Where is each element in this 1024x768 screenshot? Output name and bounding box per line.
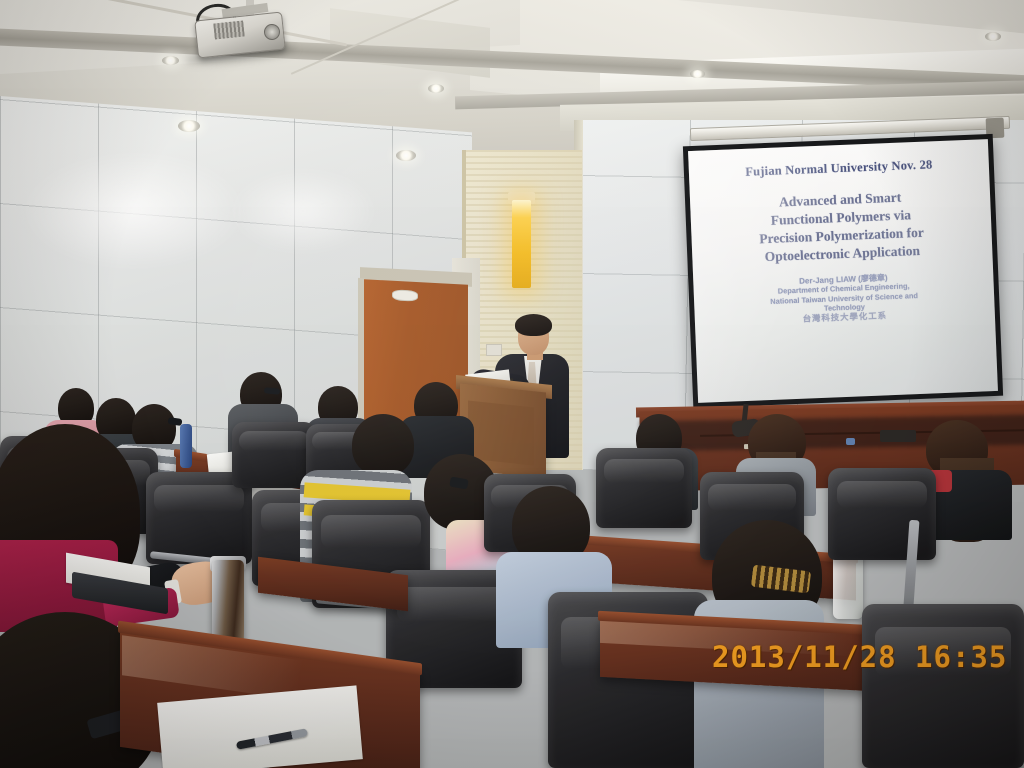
ceiling-downlight-icon <box>162 56 179 65</box>
audience-head <box>352 414 414 476</box>
projector-vent-grille <box>213 20 245 39</box>
speaker-hair <box>515 314 552 336</box>
slide-title-text: Advanced and Smart Functional Polymers v… <box>690 185 993 269</box>
wall-light-glow <box>18 150 248 270</box>
ceiling-downlight-icon <box>178 120 200 132</box>
ceiling-downlight-icon <box>396 150 416 161</box>
wall-sconce-light <box>512 200 531 288</box>
projection-screen-surface: Fujian Normal University Nov. 28 Advance… <box>688 139 998 403</box>
ceiling-downlight-icon <box>985 32 1001 41</box>
lecture-hall-photo: Fujian Normal University Nov. 28 Advance… <box>0 0 1024 768</box>
chair[interactable] <box>862 604 1024 768</box>
camera-timestamp: 2013/11/28 16:35 <box>712 640 1007 674</box>
av-equipment <box>880 430 916 442</box>
podium-front-panel <box>468 401 534 466</box>
slide-author-block: Der-Jang LIAW (廖德章) Department of Chemic… <box>693 269 995 328</box>
wall-light-glow <box>228 168 378 254</box>
chair[interactable] <box>596 448 692 528</box>
ceiling-downlight-icon <box>690 70 705 78</box>
projection-screen: Fujian Normal University Nov. 28 Advance… <box>683 134 1003 408</box>
slide-header-text: Fujian Normal University Nov. 28 <box>689 155 989 182</box>
chair[interactable] <box>828 468 936 560</box>
water-bottle <box>180 424 192 468</box>
indicator-light <box>846 438 855 445</box>
ceiling-downlight-icon <box>428 84 444 93</box>
light-switch-plate[interactable] <box>486 344 502 356</box>
door-sign <box>392 289 418 301</box>
